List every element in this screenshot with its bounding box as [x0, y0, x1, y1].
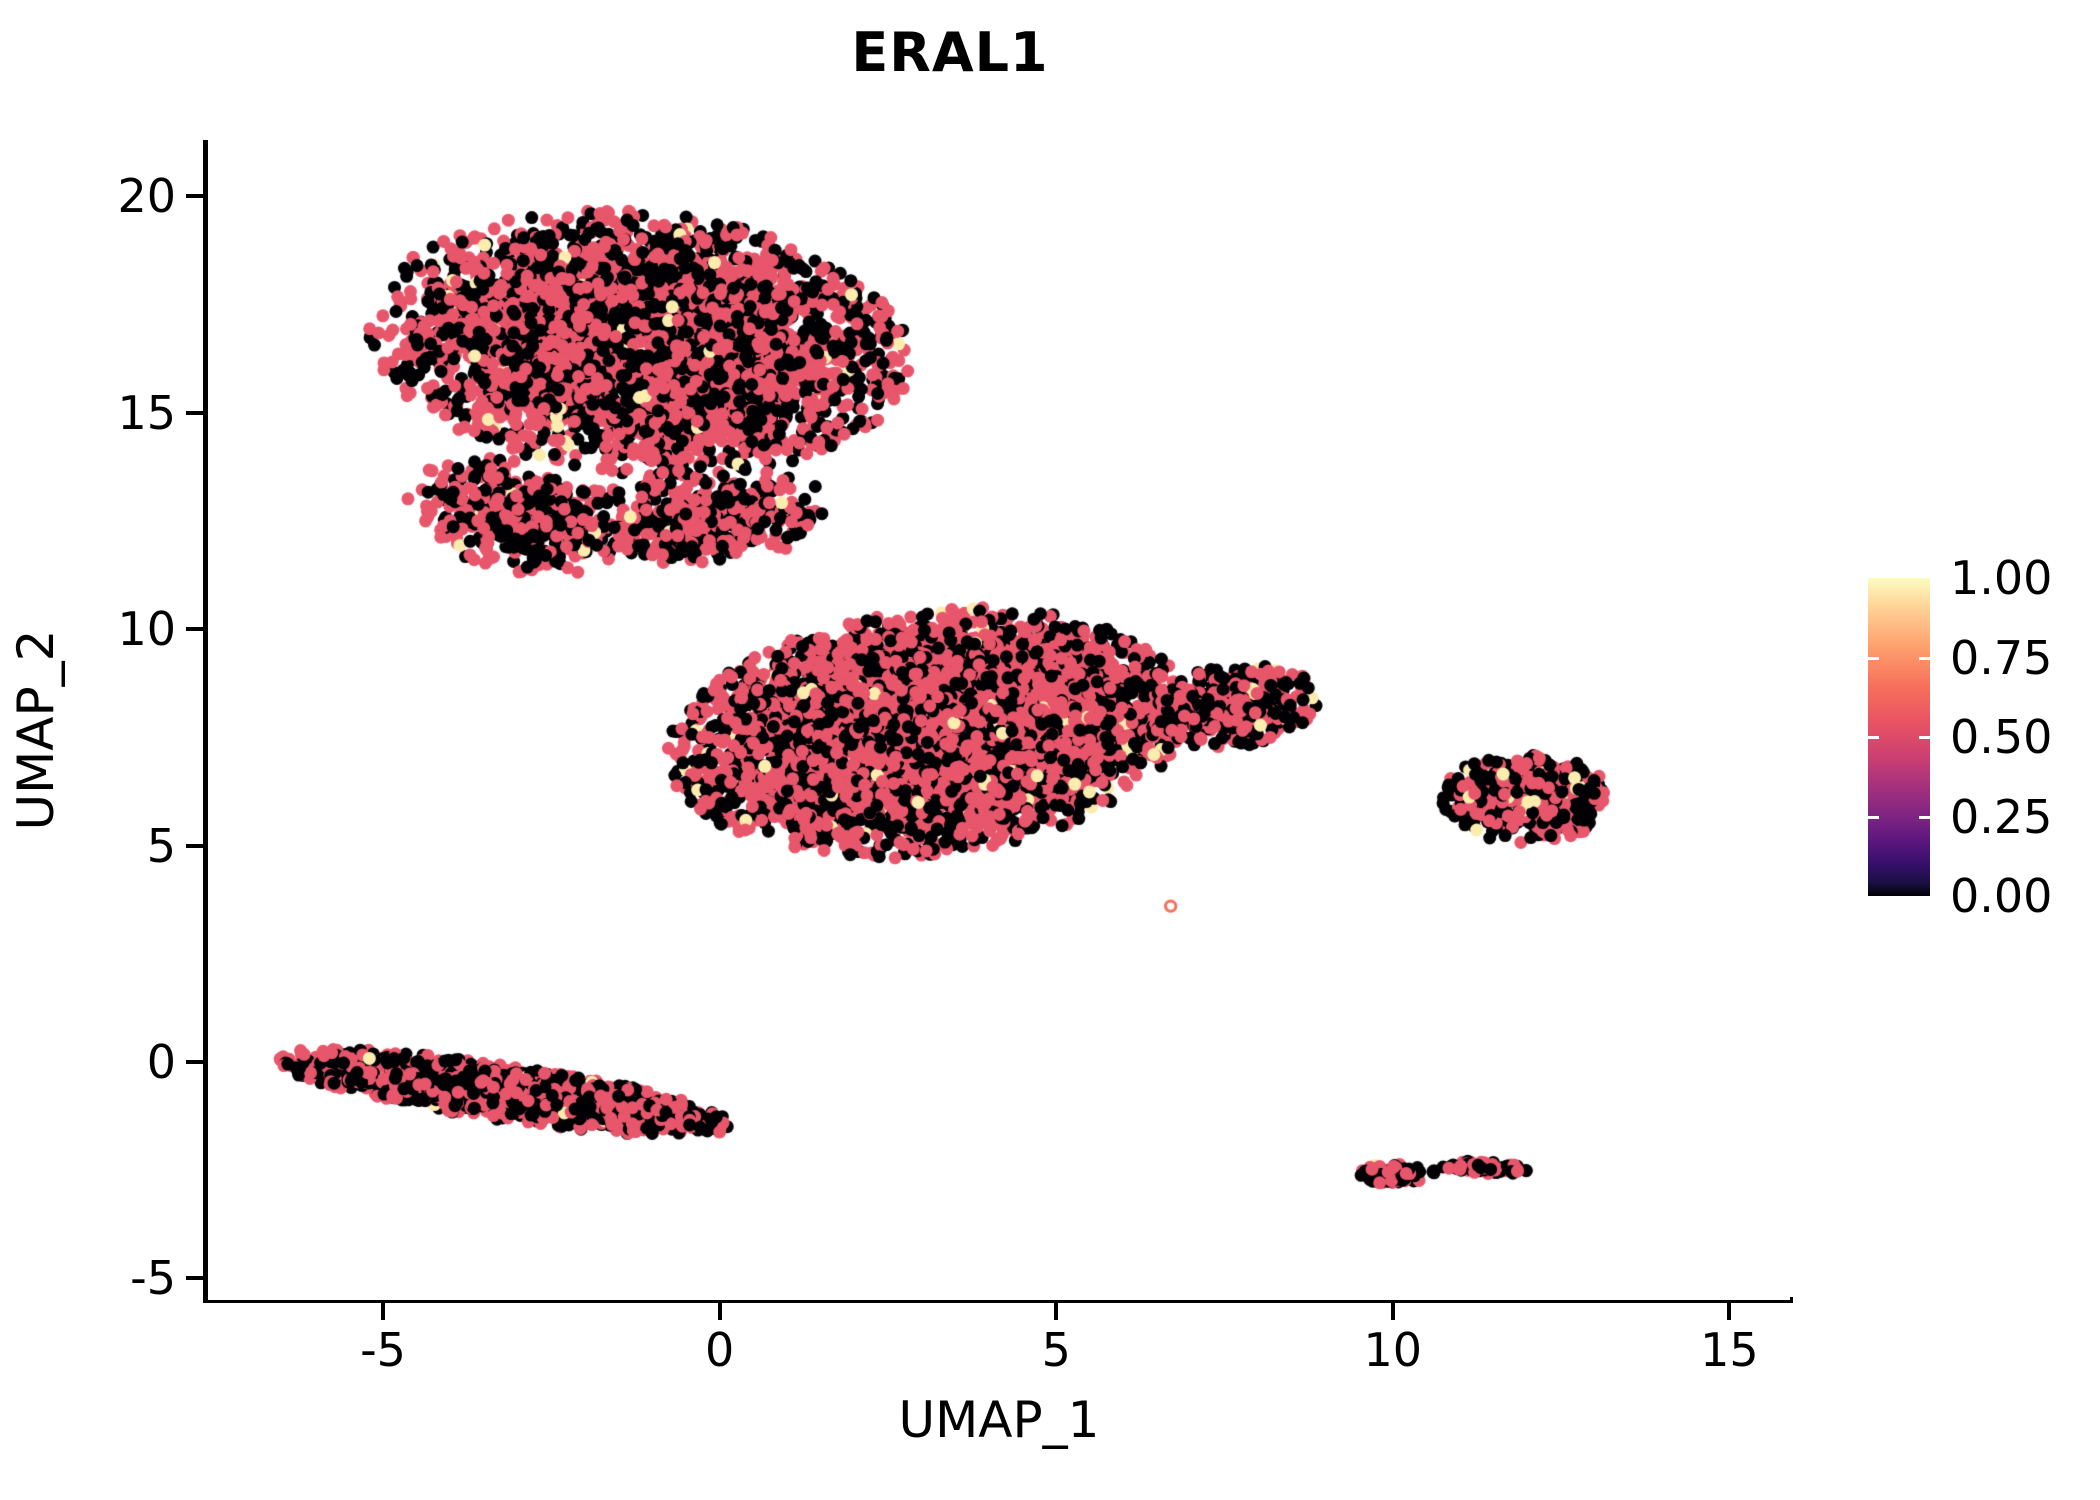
colorbar-tick-label: 0.25	[1950, 789, 2100, 845]
figure-canvas: ERAL1 -5051015 -505101520 UMAP_1 UMAP_2 …	[0, 0, 2100, 1500]
colorbar-tick-mark	[1868, 657, 1879, 660]
scatter-plot-area	[208, 140, 1790, 1300]
y-tick-mark	[186, 1060, 203, 1064]
colorbar-tick-mark	[1919, 657, 1930, 660]
colorbar-tick-label: 0.50	[1950, 709, 2100, 765]
colorbar-tick-mark	[1868, 736, 1879, 739]
y-tick-label: 20	[0, 168, 176, 224]
x-tick-label: 5	[981, 1322, 1131, 1378]
x-tick-mark	[381, 1303, 385, 1320]
y-tick-mark	[186, 194, 203, 198]
x-tick-label: 0	[645, 1322, 795, 1378]
y-axis-label: UMAP_2	[6, 420, 66, 1040]
page-title: ERAL1	[0, 22, 1900, 84]
x-tick-mark	[718, 1303, 722, 1320]
x-tick-mark	[1054, 1303, 1058, 1320]
y-tick-mark	[186, 1276, 203, 1280]
colorbar-tick-mark	[1919, 816, 1930, 819]
colorbar: 0.000.250.500.751.00	[1868, 578, 2098, 908]
x-tick-label: 10	[1318, 1322, 1468, 1378]
colorbar-tick-mark	[1868, 816, 1879, 819]
colorbar-tick-label: 0.75	[1950, 630, 2100, 686]
x-tick-label: -5	[308, 1322, 458, 1378]
x-tick-mark	[1727, 1303, 1731, 1320]
y-tick-mark	[186, 627, 203, 631]
x-tick-label: 15	[1654, 1322, 1804, 1378]
x-axis-label: UMAP_1	[208, 1390, 1790, 1450]
y-tick-label: -5	[0, 1250, 176, 1306]
y-tick-label: 0	[0, 1034, 176, 1090]
colorbar-tick-label: 0.00	[1950, 868, 2100, 924]
colorbar-tick-mark	[1919, 736, 1930, 739]
scatter-points-layer	[208, 140, 1790, 1300]
y-tick-mark	[186, 411, 203, 415]
colorbar-tick-label: 1.00	[1950, 550, 2100, 606]
x-tick-mark	[1391, 1303, 1395, 1320]
y-tick-mark	[186, 844, 203, 848]
